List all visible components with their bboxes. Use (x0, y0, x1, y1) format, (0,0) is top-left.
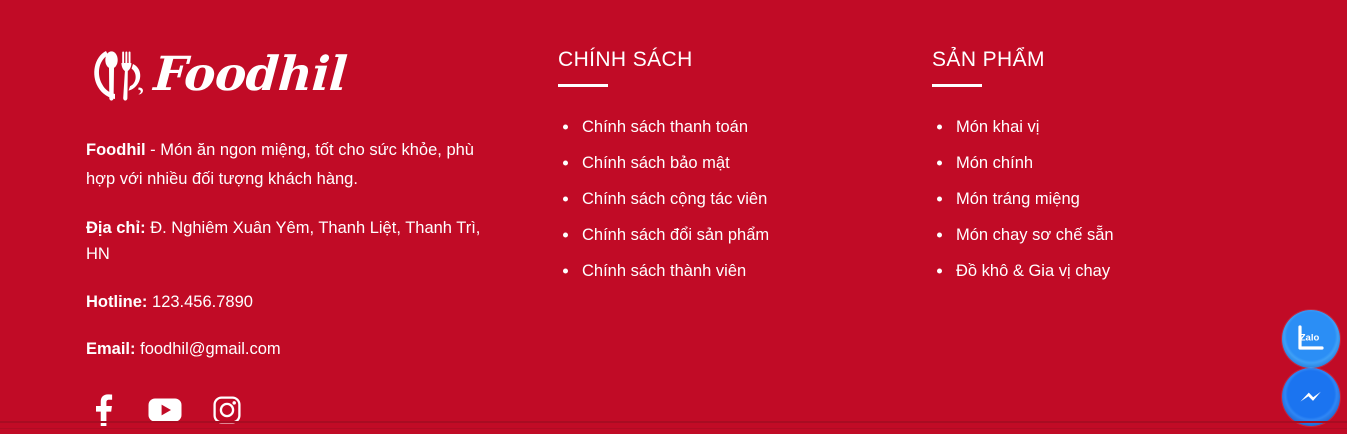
address-label: Địa chỉ: (86, 219, 146, 237)
messenger-chat-button[interactable] (1282, 368, 1340, 426)
footer-columns: Foodhil Foodhil - Món ăn ngon miệng, tốt… (0, 0, 1347, 434)
list-item[interactable]: Chính sách cộng tác viên (558, 181, 878, 217)
list-item[interactable]: Chính sách bảo mật (558, 145, 878, 181)
email-value[interactable]: foodhil@gmail.com (140, 340, 281, 358)
brand-tagline: Foodhil - Món ăn ngon miệng, tốt cho sức… (86, 136, 506, 194)
policy-column-title: CHÍNH SÁCH (558, 48, 878, 71)
list-item[interactable]: Món khai vị (932, 109, 1252, 145)
list-item[interactable]: Chính sách đổi sản phẩm (558, 217, 878, 253)
brand-wordmark: Foodhil (152, 51, 348, 98)
hotline-line: Hotline: 123.456.7890 (86, 289, 506, 315)
spoon-fork-plate-icon (86, 43, 148, 105)
email-line: Email: foodhil@gmail.com (86, 336, 506, 362)
hotline-value[interactable]: 123.456.7890 (152, 293, 253, 311)
svg-text:Zalo: Zalo (1300, 333, 1320, 344)
brand-tagline-strong: Foodhil (86, 141, 146, 159)
footer-divider-secondary (0, 428, 1347, 429)
logo[interactable]: Foodhil (86, 38, 506, 110)
floating-chat-dock: Zalo (1280, 310, 1342, 426)
zalo-chat-button[interactable]: Zalo (1282, 310, 1340, 368)
list-item[interactable]: Đồ khô & Gia vị chay (932, 253, 1252, 289)
policy-link-list: Chính sách thanh toán Chính sách bảo mật… (558, 109, 878, 289)
brand-column: Foodhil Foodhil - Món ăn ngon miệng, tốt… (86, 38, 506, 427)
list-item[interactable]: Món tráng miệng (932, 181, 1252, 217)
address-value: Đ. Nghiêm Xuân Yêm, Thanh Liệt, Thanh Tr… (86, 219, 480, 263)
product-link-list: Món khai vị Món chính Món tráng miệng Mó… (932, 109, 1252, 289)
product-column: SẢN PHẨM Món khai vị Món chính Món tráng… (932, 48, 1252, 289)
product-title-underline (932, 84, 982, 87)
product-column-title: SẢN PHẨM (932, 48, 1252, 71)
email-label: Email: (86, 340, 136, 358)
footer-divider (0, 421, 1347, 423)
site-footer: Foodhil Foodhil - Món ăn ngon miệng, tốt… (0, 0, 1347, 434)
list-item[interactable]: Chính sách thanh toán (558, 109, 878, 145)
address-line: Địa chỉ: Đ. Nghiêm Xuân Yêm, Thanh Liệt,… (86, 215, 506, 268)
hotline-label: Hotline: (86, 293, 147, 311)
policy-column: CHÍNH SÁCH Chính sách thanh toán Chính s… (558, 48, 878, 289)
list-item[interactable]: Chính sách thành viên (558, 253, 878, 289)
list-item[interactable]: Món chay sơ chế sẵn (932, 217, 1252, 253)
list-item[interactable]: Món chính (932, 145, 1252, 181)
policy-title-underline (558, 84, 608, 87)
